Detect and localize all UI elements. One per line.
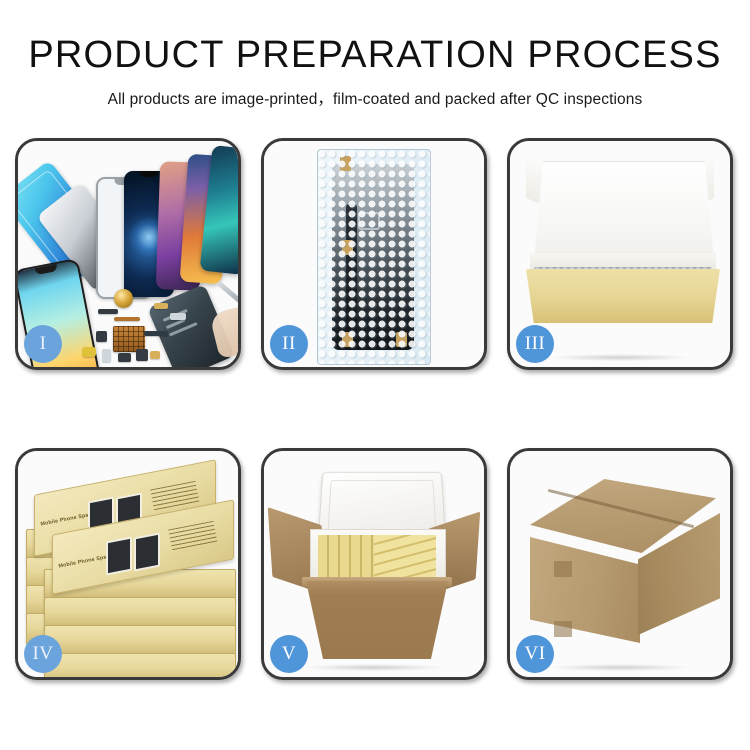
step-6-image: VI bbox=[510, 451, 730, 677]
component-gold-1 bbox=[154, 303, 168, 309]
step-badge-3: III bbox=[516, 325, 554, 363]
step-panel-2: II bbox=[261, 138, 487, 370]
carton-front-face bbox=[530, 537, 640, 643]
component-light-2 bbox=[102, 349, 111, 362]
stacked-box-r4 bbox=[44, 653, 236, 677]
speaker-coil-part bbox=[114, 289, 133, 308]
step-2-image: II bbox=[264, 141, 484, 367]
step-badge-5: V bbox=[270, 635, 308, 673]
step-1-image: I bbox=[18, 141, 238, 367]
step-panel-6: VI bbox=[507, 448, 733, 680]
carton-tape-patch-top bbox=[554, 561, 572, 577]
bubble-highlights bbox=[318, 150, 430, 364]
carton-body bbox=[306, 581, 448, 659]
drop-shadow bbox=[550, 664, 691, 671]
component-square-1 bbox=[96, 331, 107, 342]
step-badge-1: I bbox=[24, 325, 62, 363]
component-flex-1 bbox=[114, 317, 140, 321]
product-preparation-infographic: PRODUCT PREPARATION PROCESS All products… bbox=[0, 0, 750, 750]
screwdriver-tool bbox=[216, 281, 238, 307]
drop-shadow bbox=[550, 354, 691, 361]
step-3-image: III bbox=[510, 141, 730, 367]
box-stack: Mobile Phone Spare Parts Mobile Phone Sp… bbox=[26, 473, 236, 669]
component-dark-2 bbox=[118, 353, 131, 362]
step-badge-4: IV bbox=[24, 635, 62, 673]
step-panel-3: III bbox=[507, 138, 733, 370]
step-panel-5: V bbox=[261, 448, 487, 680]
drop-shadow bbox=[304, 664, 445, 671]
step-badge-6: VI bbox=[516, 635, 554, 673]
step-5-image: V bbox=[264, 451, 484, 677]
box-screen-image-2a bbox=[106, 536, 132, 575]
page-subtitle: All products are image-printed，film-coat… bbox=[0, 87, 750, 109]
bubble-wrap-bag bbox=[317, 149, 431, 365]
component-flex-2 bbox=[144, 331, 168, 336]
page-title: PRODUCT PREPARATION PROCESS bbox=[0, 36, 750, 76]
step-panel-4: Mobile Phone Spare Parts Mobile Phone Sp… bbox=[15, 448, 241, 680]
component-light-1 bbox=[170, 313, 186, 320]
yellow-box-tray bbox=[526, 269, 720, 323]
carton-tape-patch-bottom bbox=[554, 621, 572, 637]
step-4-image: Mobile Phone Spare Parts Mobile Phone Sp… bbox=[18, 451, 238, 677]
packed-yellow-boxes-angled bbox=[374, 535, 436, 579]
component-strip-1 bbox=[98, 309, 118, 314]
step-panel-1: I bbox=[15, 138, 241, 370]
steps-grid: I II bbox=[15, 138, 735, 680]
component-dark-3 bbox=[136, 349, 148, 361]
header: PRODUCT PREPARATION PROCESS All products… bbox=[0, 0, 750, 109]
box-screen-image-2b bbox=[134, 532, 160, 571]
component-yellow-1 bbox=[82, 347, 96, 357]
component-gold-2 bbox=[150, 351, 160, 359]
step-badge-2: II bbox=[270, 325, 308, 363]
